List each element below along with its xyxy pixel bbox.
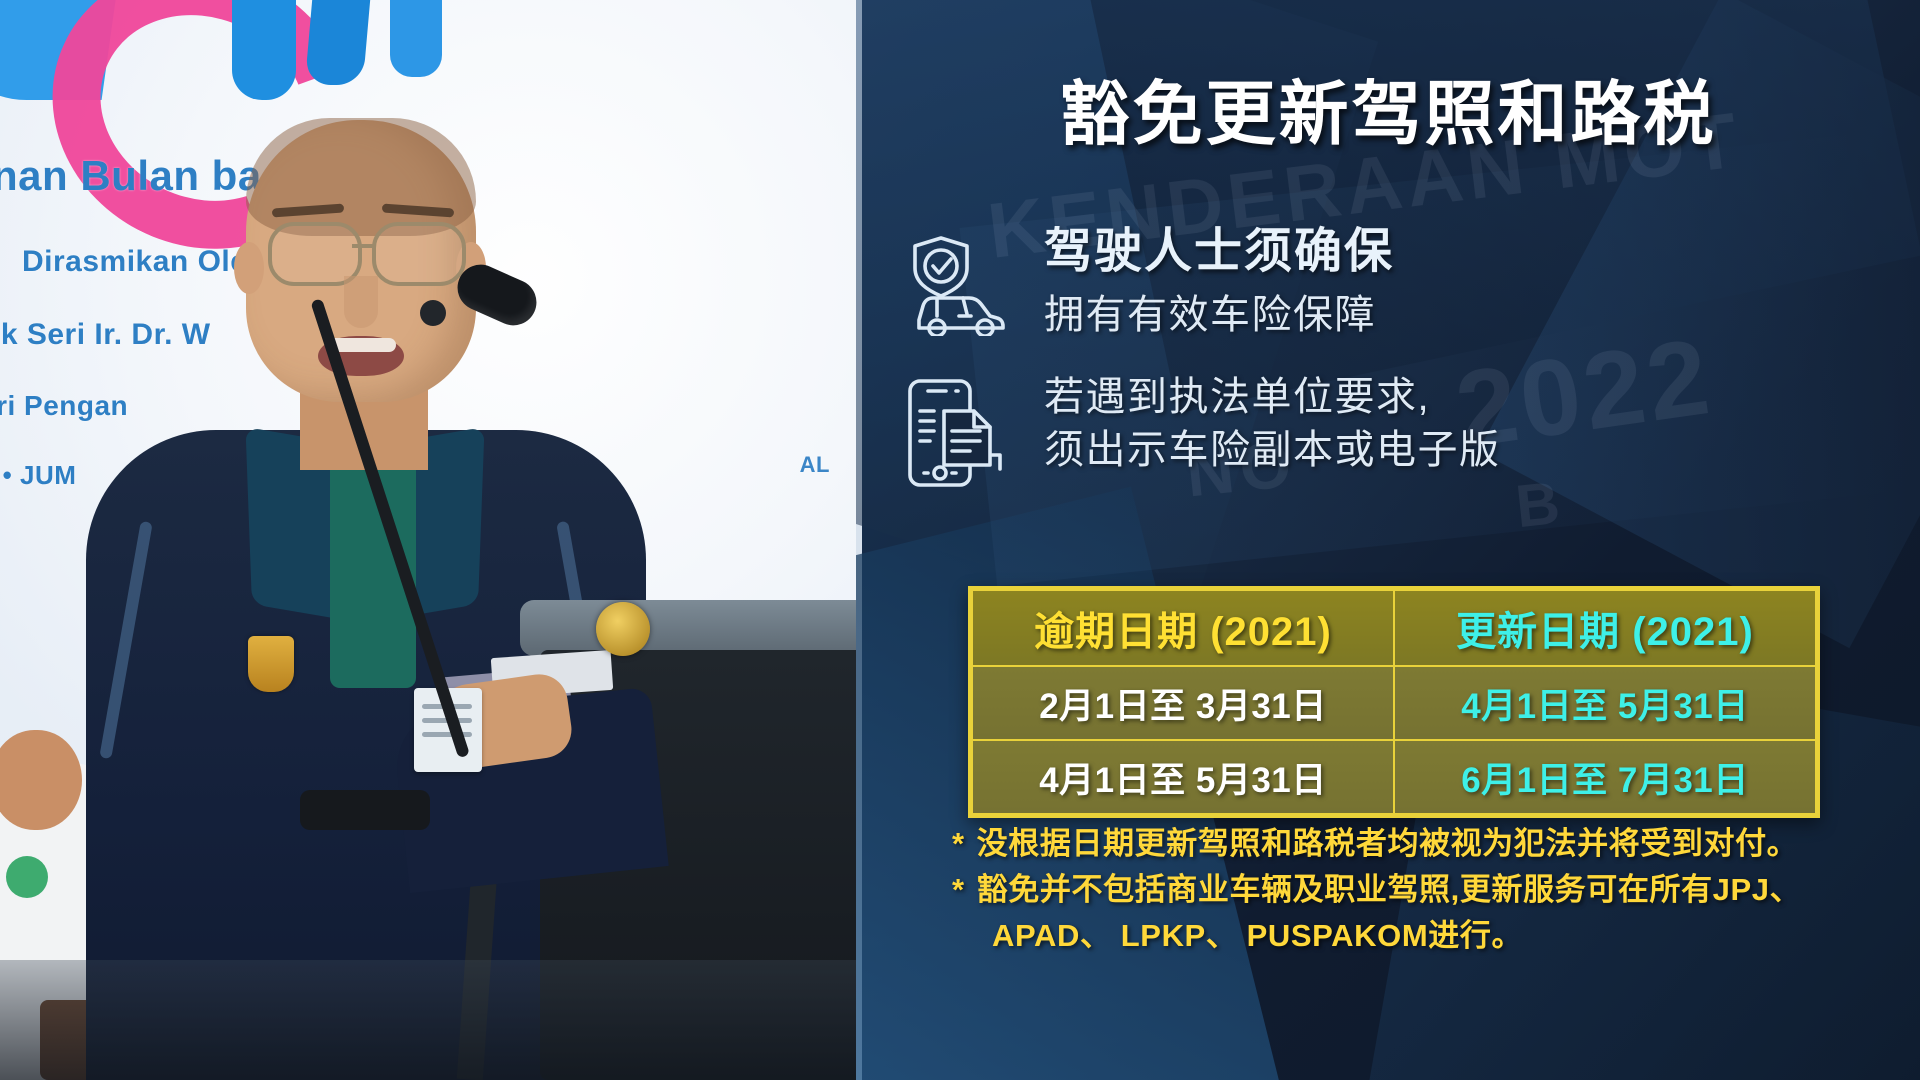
table-header-row: 逾期日期 (2021) 更新日期 (2021): [972, 590, 1816, 666]
footnote-text-1: 没根据日期更新驾照和路税者均被视为犯法并将受到对付。: [977, 826, 1799, 861]
backdrop-logo-shape-blue-4: [390, 0, 442, 77]
press-conference-photo: nan Bulan ba Had Dirasmikan Ole uk Seri …: [0, 0, 856, 1080]
footnote-star-1: *: [952, 826, 965, 861]
bystander-shirt-logo: [6, 856, 48, 898]
key-point-text: 若遇到执法单位要求, 须出示车险副本或电子版: [1044, 369, 1896, 478]
backdrop-text-line-4: eri Pengan: [0, 390, 128, 422]
podium-top: [520, 600, 856, 656]
footnote-2: *豁免并不包括商业车辆及职业驾照,更新服务可在所有JPJ、: [952, 868, 1892, 912]
cell-renewal-1: 4月1日至 5月31日: [1394, 666, 1816, 740]
government-emblem-icon: [596, 602, 650, 656]
eyeglasses-lens-right: [372, 222, 466, 286]
uniform-badge-icon: [248, 636, 294, 692]
backdrop-text-line-6: AL: [800, 452, 830, 478]
panel-content: 豁免更新驾照和路税: [856, 0, 1920, 1080]
table-header-expiry-date: 逾期日期 (2021): [972, 590, 1394, 666]
key-point-item: 若遇到执法单位要求, 须出示车险副本或电子版: [896, 369, 1896, 491]
footnote-1: *没根据日期更新驾照和路税者均被视为犯法并将受到对付。: [952, 822, 1892, 866]
renewal-schedule-table: 逾期日期 (2021) 更新日期 (2021) 2月1日至 3月31日 4月1日…: [968, 586, 1820, 818]
infographic-screenshot: nan Bulan ba Had Dirasmikan Ole uk Seri …: [0, 0, 1920, 1080]
key-point-sub: 拥有有效车险保障: [1044, 289, 1896, 341]
backdrop-text-line-5: 1 • JUM: [0, 460, 76, 491]
eyeglasses-bridge: [352, 244, 374, 248]
key-point-item: 驾驶人士须确保 拥有有效车险保障: [896, 222, 1896, 341]
footnote-star-2: *: [952, 872, 965, 907]
table-row: 2月1日至 3月31日 4月1日至 5月31日: [972, 666, 1816, 740]
key-point-lead: 驾驶人士须确保: [1044, 224, 1896, 281]
infographic-panel: KENDERAAN MOT 2022 B NO 豁免更新驾照和路税: [856, 0, 1920, 1080]
speaker-hair: [246, 118, 476, 236]
speaker-nose: [344, 276, 378, 328]
cell-expiry-1: 2月1日至 3月31日: [972, 666, 1394, 740]
phone-document-icon: [896, 369, 1014, 491]
cell-expiry-2: 4月1日至 5月31日: [972, 740, 1394, 814]
microphone-joint: [420, 300, 446, 326]
key-point-line-1: 若遇到执法单位要求,: [1044, 371, 1896, 425]
footnote-3: APAD、 LPKP、 PUSPAKOM进行。: [952, 914, 1892, 958]
page-title: 豁免更新驾照和路税: [856, 58, 1920, 159]
microphone-base: [300, 790, 430, 830]
table-row: 4月1日至 5月31日 6月1日至 7月31日: [972, 740, 1816, 814]
footnote-text-3: APAD、 LPKP、 PUSPAKOM进行。: [992, 918, 1523, 953]
footnote-text-2: 豁免并不包括商业车辆及职业驾照,更新服务可在所有JPJ、: [977, 872, 1802, 907]
backdrop-text-line-2: Dirasmikan Ole: [22, 245, 247, 279]
key-point-text: 驾驶人士须确保 拥有有效车险保障: [1044, 222, 1896, 341]
speaker-ear-left: [234, 242, 264, 294]
backdrop-text-line-3: uk Seri Ir. Dr. W: [0, 318, 211, 352]
footnotes: *没根据日期更新驾照和路税者均被视为犯法并将受到对付。 *豁免并不包括商业车辆及…: [952, 822, 1892, 960]
stage-floor: [0, 960, 856, 1080]
key-point-line-2: 须出示车险副本或电子版: [1044, 424, 1896, 478]
table-header-renewal-date: 更新日期 (2021): [1394, 590, 1816, 666]
backdrop-logo-shape-blue-2: [232, 0, 296, 100]
shield-check-car-icon: [896, 222, 1014, 336]
cell-renewal-2: 6月1日至 7月31日: [1394, 740, 1816, 814]
key-points-list: 驾驶人士须确保 拥有有效车险保障: [896, 222, 1896, 519]
